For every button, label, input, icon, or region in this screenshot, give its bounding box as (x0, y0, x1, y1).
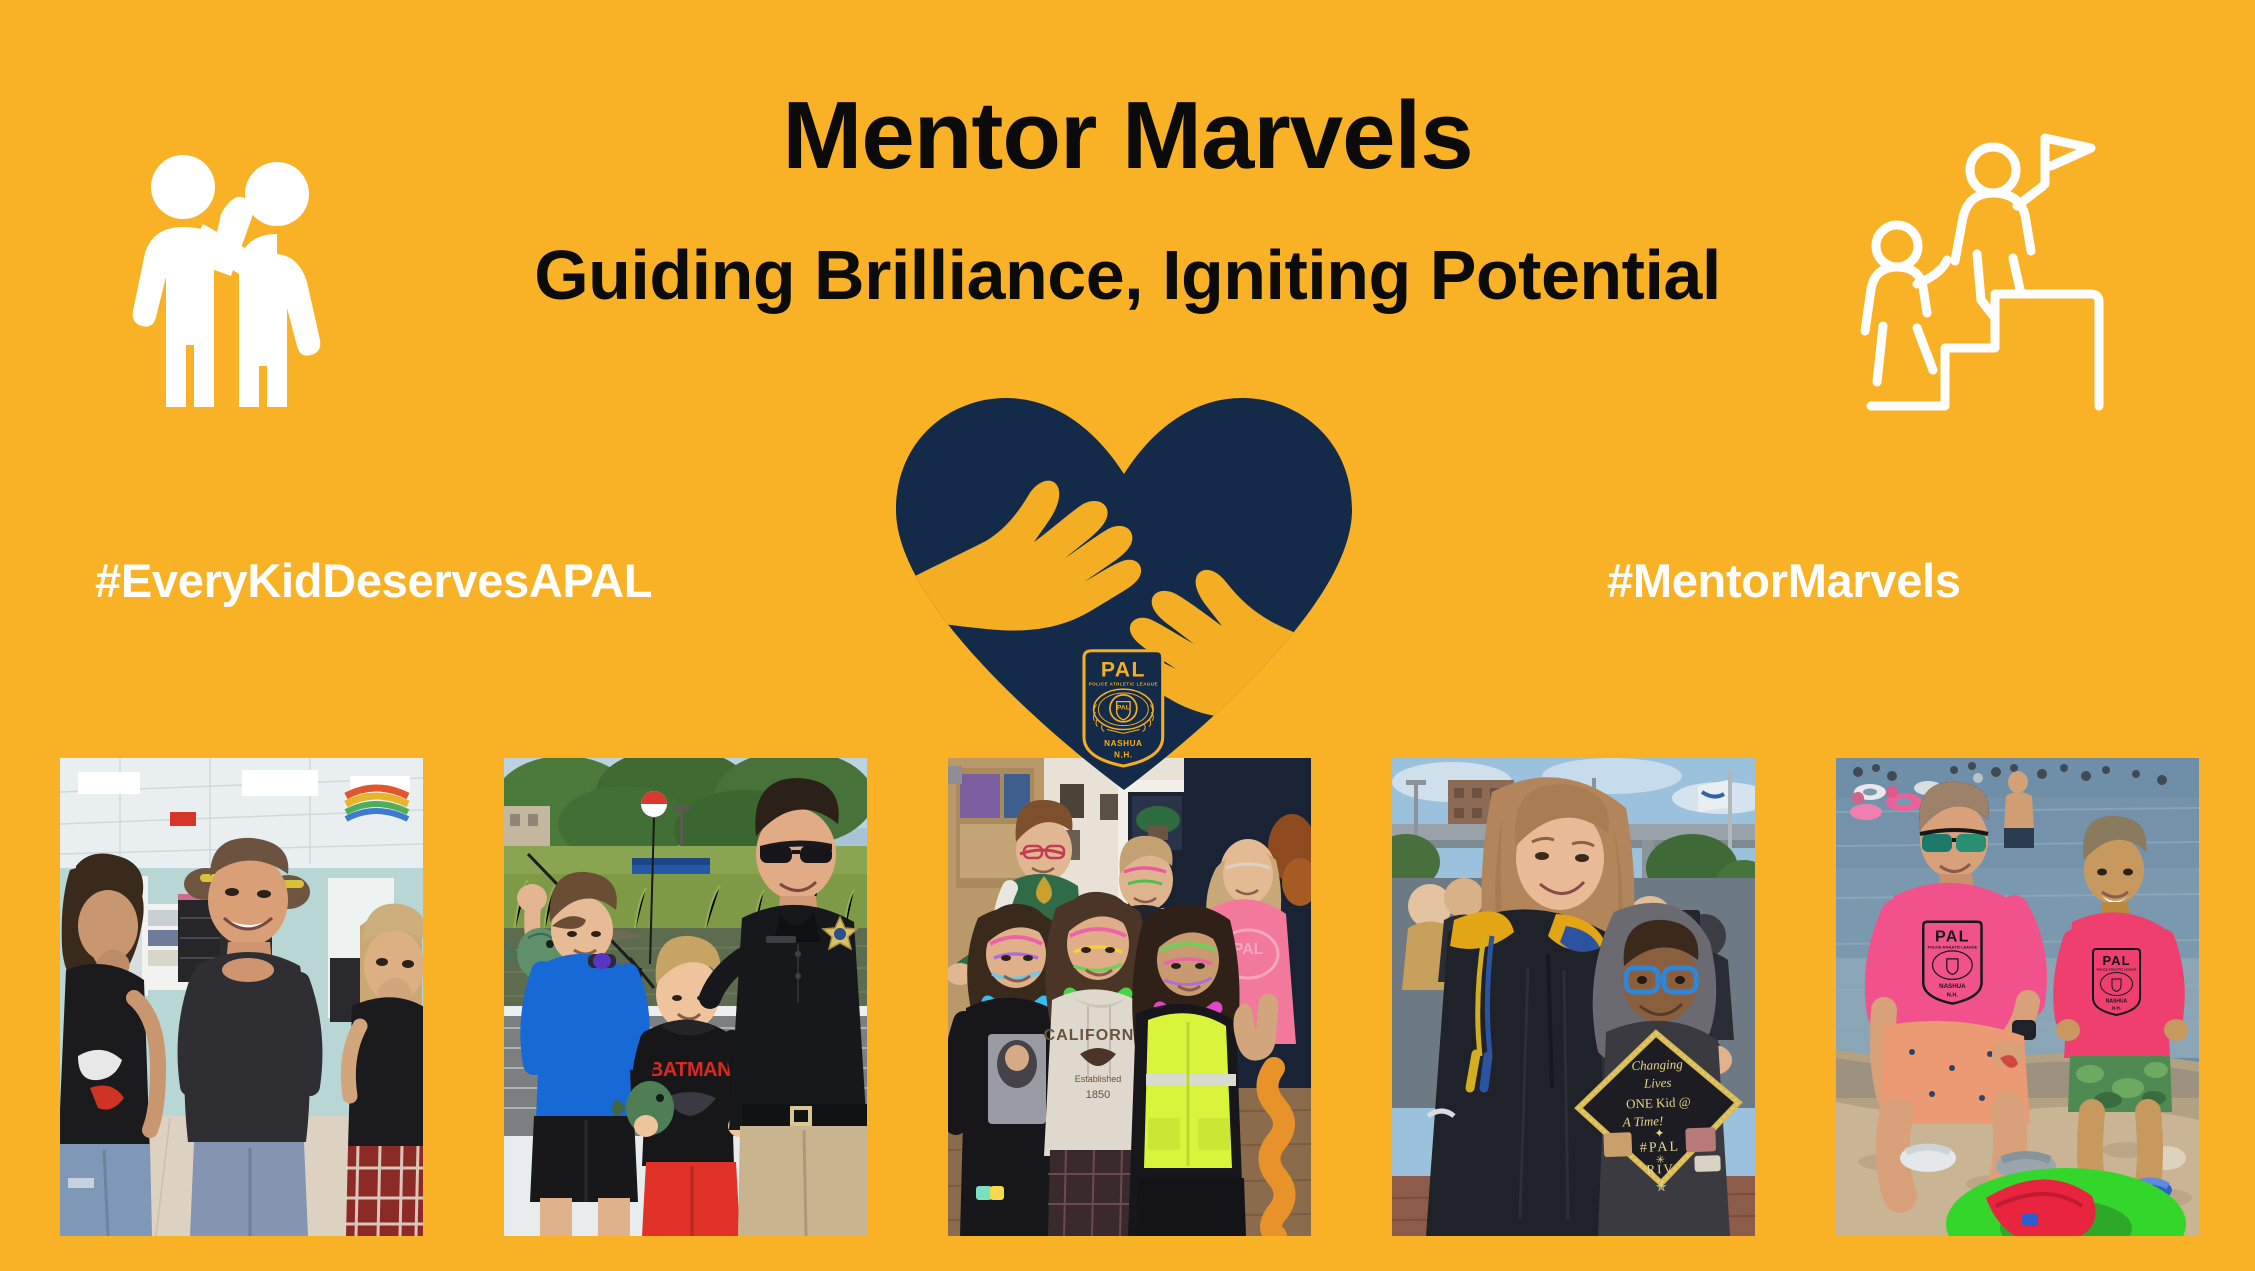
svg-text:BATMAN: BATMAN (649, 1059, 731, 1081)
hashtag-mentor-marvels: #MentorMarvels (1607, 553, 1961, 608)
svg-text:✳: ✳ (1656, 1154, 1666, 1166)
svg-text:NASHUA: NASHUA (2106, 999, 2128, 1005)
svg-text:PAL: PAL (1101, 659, 1146, 682)
page-subtitle: Guiding Brilliance, Igniting Potential (0, 239, 2255, 313)
svg-text:POLICE ATHLETIC LEAGUE: POLICE ATHLETIC LEAGUE (1928, 945, 1978, 949)
svg-text:NASHUA: NASHUA (1104, 739, 1142, 748)
photo-graduate-with-child: Changing Lives ONE Kid @ A Time! #PAL RI… (1392, 758, 1755, 1236)
svg-text:Lives: Lives (1643, 1075, 1672, 1091)
svg-text:POLICE ATHLETIC LEAGUE: POLICE ATHLETIC LEAGUE (2097, 968, 2137, 972)
svg-text:PAL: PAL (2102, 953, 2130, 968)
heart-with-clasping-hands-icon: PAL POLICE ATHLETIC LEAGUE PAL (888, 392, 1360, 790)
svg-text:✦: ✦ (1654, 1126, 1665, 1140)
svg-text:N.H.: N.H. (1947, 993, 1959, 999)
page-title: Mentor Marvels (0, 86, 2255, 187)
svg-text:Changing: Changing (1631, 1056, 1683, 1073)
svg-text:NASHUA: NASHUA (1939, 983, 1966, 990)
photo-beach-pal-shirts: PAL POLICE ATHLETIC LEAGUE NASHUA N.H. (1836, 758, 2199, 1236)
photo-officer-fishing-with-boys: BATMAN (504, 758, 867, 1236)
svg-text:✯: ✯ (1656, 1179, 1668, 1194)
headline-block: Mentor Marvels Guiding Brilliance, Ignit… (0, 86, 2255, 312)
photo-group-face-paint-glow-necklaces: PAL (948, 758, 1311, 1236)
hashtag-every-kid-deserves-a-pal: #EveryKidDeservesAPAL (95, 553, 652, 608)
photo-classroom-mentor-two-girls (60, 758, 423, 1236)
svg-text:N.H.: N.H. (1114, 750, 1133, 759)
svg-text:POLICE ATHLETIC LEAGUE: POLICE ATHLETIC LEAGUE (1089, 681, 1158, 686)
svg-text:ONE Kid @: ONE Kid @ (1626, 1094, 1691, 1111)
svg-text:PAL: PAL (1117, 704, 1130, 711)
svg-text:PAL: PAL (1233, 941, 1264, 958)
pal-badge: PAL POLICE ATHLETIC LEAGUE PAL (1084, 651, 1163, 766)
svg-text:1850: 1850 (1086, 1089, 1110, 1101)
poster-canvas: Mentor Marvels Guiding Brilliance, Ignit… (0, 0, 2255, 1271)
svg-text:N.H.: N.H. (2112, 1006, 2121, 1011)
svg-text:Established: Established (1075, 1074, 1122, 1084)
svg-text:PAL: PAL (1935, 928, 1970, 946)
photo-strip: BATMAN (0, 758, 2255, 1236)
